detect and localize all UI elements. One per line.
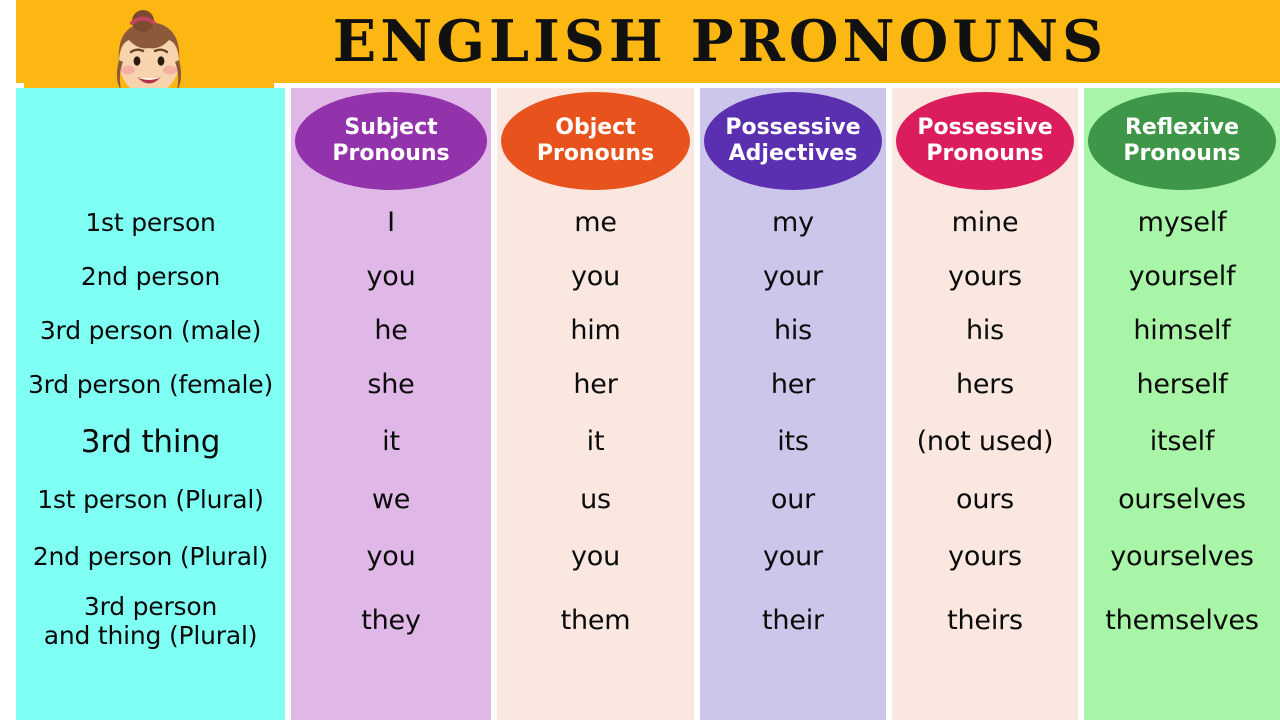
person-rows: 1st person 2nd person 3rd person (male) … [16,196,285,720]
cell-posadj-7: their [700,586,886,656]
column-possessive-pronouns: Possessive Pronouns mine yours his hers … [892,88,1078,720]
cell-posadj-0: my [700,196,886,250]
heading-possessive-pronouns: Possessive Pronouns [896,92,1074,190]
reflexive-rows: myself yourself himself herself itself o… [1084,196,1280,720]
cell-object-1: you [497,250,694,304]
cell-pospro-5: ours [892,472,1078,528]
cell-pospro-3: hers [892,358,1078,412]
cell-subject-0: I [291,196,491,250]
cell-subject-3: she [291,358,491,412]
pronouns-infographic: ENGLISH PRONOUNS [0,0,1280,720]
cell-reflex-2: himself [1084,304,1280,358]
possessive-pronouns-rows: mine yours his hers (not used) ours your… [892,196,1078,720]
person-label-2nd-plural: 2nd person (Plural) [16,528,285,586]
person-label-3rd-plural-line2: and thing (Plural) [44,621,258,650]
cell-pospro-2: his [892,304,1078,358]
heading-object-pronouns: Object Pronouns [501,92,690,190]
page-title: ENGLISH PRONOUNS [270,0,1170,83]
person-label-2nd: 2nd person [16,250,285,304]
heading-object-line1: Object [555,115,635,141]
cell-posadj-4: its [700,412,886,472]
cell-object-6: you [497,528,694,586]
heading-possessive-adjectives: Possessive Adjectives [704,92,882,190]
cell-subject-4: it [291,412,491,472]
person-label-1st: 1st person [16,196,285,250]
column-possessive-adjectives: Possessive Adjectives my your his her it… [700,88,886,720]
heading-pospro-line2: Pronouns [926,141,1043,167]
heading-object-line2: Pronouns [537,141,654,167]
heading-reflex-line2: Pronouns [1123,141,1240,167]
cell-posadj-2: his [700,304,886,358]
cell-object-0: me [497,196,694,250]
cell-object-2: him [497,304,694,358]
heading-reflex-line1: Reflexive [1125,115,1239,141]
cell-reflex-1: yourself [1084,250,1280,304]
cell-subject-2: he [291,304,491,358]
cell-reflex-4: itself [1084,412,1280,472]
column-subject-pronouns: Subject Pronouns I you he she it we you … [291,88,491,720]
column-person: 1st person 2nd person 3rd person (male) … [16,88,285,720]
subject-rows: I you he she it we you they [291,196,491,720]
cell-pospro-0: mine [892,196,1078,250]
cell-subject-6: you [291,528,491,586]
heading-subject-pronouns: Subject Pronouns [295,92,487,190]
person-label-3rd-thing: 3rd thing [16,412,285,472]
object-rows: me you him her it us you them [497,196,694,720]
person-label-3rd-plural-line1: 3rd person [84,592,217,621]
person-label-3rd-female: 3rd person (female) [16,358,285,412]
heading-subject-line2: Pronouns [332,141,449,167]
person-label-3rd-plural: 3rd person and thing (Plural) [16,586,285,656]
cell-reflex-5: ourselves [1084,472,1280,528]
heading-reflexive-pronouns: Reflexive Pronouns [1088,92,1276,190]
possessive-adjectives-rows: my your his her its our your their [700,196,886,720]
cell-pospro-1: yours [892,250,1078,304]
column-reflexive-pronouns: Reflexive Pronouns myself yourself himse… [1084,88,1280,720]
cell-posadj-3: her [700,358,886,412]
cell-subject-5: we [291,472,491,528]
heading-pospro-line1: Possessive [917,115,1052,141]
cell-object-4: it [497,412,694,472]
cell-reflex-3: herself [1084,358,1280,412]
heading-posadj-line1: Possessive [725,115,860,141]
cell-posadj-1: your [700,250,886,304]
person-label-3rd-male: 3rd person (male) [16,304,285,358]
person-label-1st-plural: 1st person (Plural) [16,472,285,528]
cell-pospro-6: yours [892,528,1078,586]
cell-subject-7: they [291,586,491,656]
cell-object-7: them [497,586,694,656]
cell-posadj-6: your [700,528,886,586]
heading-subject-line1: Subject [344,115,437,141]
cell-subject-1: you [291,250,491,304]
cell-posadj-5: our [700,472,886,528]
cell-pospro-7: theirs [892,586,1078,656]
cell-reflex-0: myself [1084,196,1280,250]
column-object-pronouns: Object Pronouns me you him her it us you… [497,88,694,720]
cell-reflex-6: yourselves [1084,528,1280,586]
cell-object-3: her [497,358,694,412]
heading-posadj-line2: Adjectives [729,141,858,167]
cell-reflex-7: themselves [1084,586,1280,656]
cell-pospro-4: (not used) [892,412,1078,472]
cell-object-5: us [497,472,694,528]
